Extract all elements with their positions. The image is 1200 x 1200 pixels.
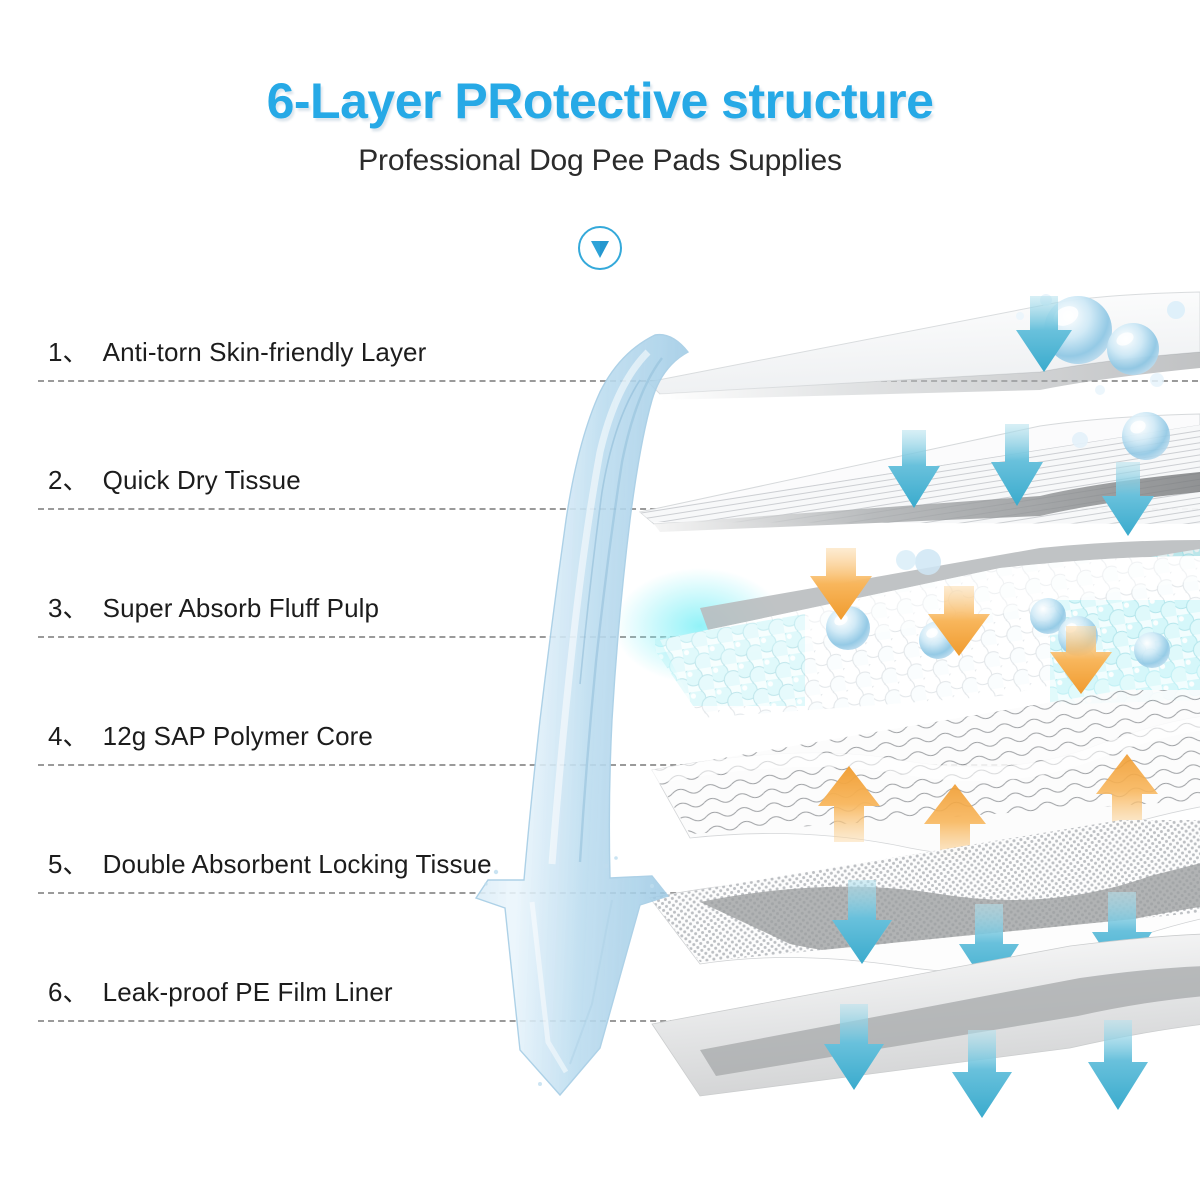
water-stream-arrow-graphic: [0, 0, 1200, 1200]
infographic-page: 6-Layer PRotective structure Professiona…: [0, 0, 1200, 1200]
